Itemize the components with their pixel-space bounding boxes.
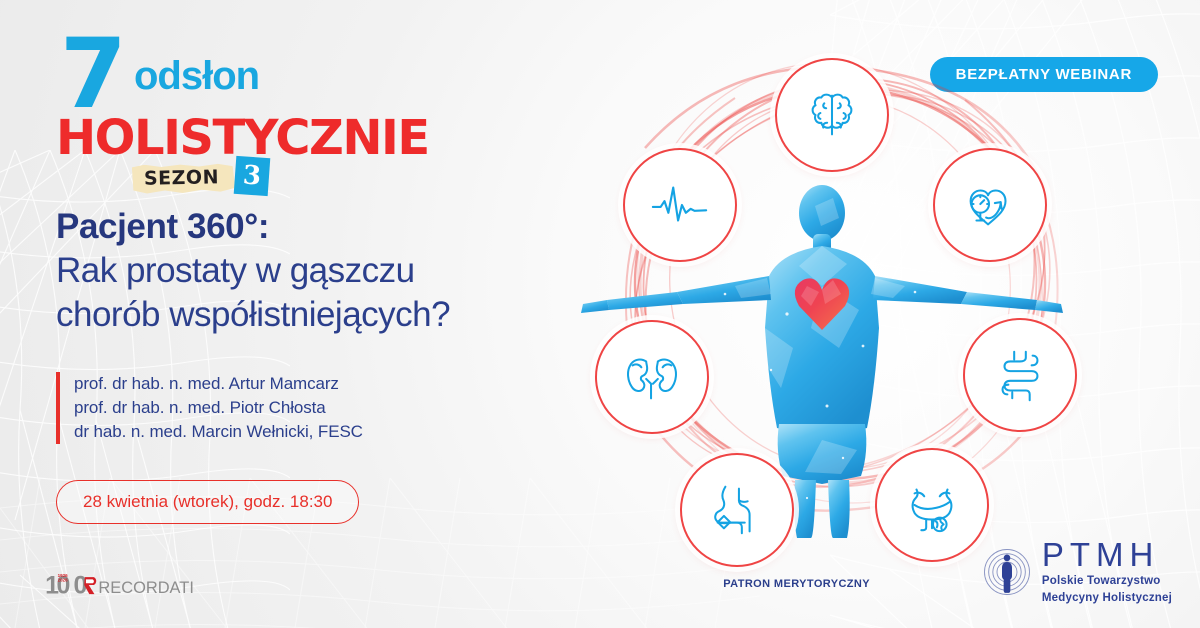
series-title: HOLISTYCZNIE: [56, 114, 429, 162]
ptmh-acronym: PTMH: [1042, 538, 1172, 571]
ptmh-subtitle-line-2: Medycyny Holistycznej: [1042, 591, 1172, 606]
hero-composition: [575, 28, 1105, 538]
webinar-banner: 7 odsłon HOLISTYCZNIE SEZON 3 BEZPŁATNY …: [0, 0, 1200, 628]
icon-circle-kidneys[interactable]: [595, 320, 709, 434]
season-number: 3: [234, 156, 271, 196]
ptmh-logo: PTMH Polskie Towarzystwo Medycyny Holist…: [982, 538, 1172, 606]
icon-circle-brain[interactable]: [775, 58, 889, 172]
ptmh-wordmark: PTMH Polskie Towarzystwo Medycyny Holist…: [1042, 538, 1172, 606]
speaker-item: prof. dr hab. n. med. Piotr Chłosta: [74, 396, 363, 420]
headline-block: Pacjent 360°: Rak prostaty w gąszczu cho…: [56, 206, 576, 337]
brain-icon: [801, 84, 863, 146]
speaker-item: dr hab. n. med. Marcin Wełnicki, FESC: [74, 420, 363, 444]
speaker-item: prof. dr hab. n. med. Artur Mamcarz: [74, 372, 363, 396]
ptmh-subtitle-line-1: Polskie Towarzystwo: [1042, 574, 1172, 589]
ecg-heartbeat-icon: [649, 174, 711, 236]
series-word: odsłon: [134, 56, 259, 96]
icon-circle-intestines[interactable]: [963, 318, 1077, 432]
icon-circle-bladder-prostate[interactable]: [875, 448, 989, 562]
icon-circle-heart-pressure[interactable]: [933, 148, 1047, 262]
series-number: 7: [60, 26, 123, 122]
kidneys-icon: [621, 346, 683, 408]
series-logo: 7 odsłon HOLISTYCZNIE SEZON 3: [58, 30, 358, 180]
season-label: SEZON: [130, 163, 236, 194]
bladder-prostate-icon: [901, 474, 963, 536]
icon-circle-knee-joint[interactable]: [680, 453, 794, 567]
recordati-logo: 1 0 0 1926 2026 RECORDATI: [44, 564, 214, 606]
svg-text:RECORDATI: RECORDATI: [98, 579, 194, 597]
intestines-icon: [989, 344, 1051, 406]
icon-circle-ecg[interactable]: [623, 148, 737, 262]
patron-label: PATRON MERYTORYCZNY: [723, 578, 870, 590]
event-date-badge: 28 kwietnia (wtorek), godz. 18:30: [56, 480, 359, 524]
ptmh-logo-mark: [982, 547, 1032, 597]
headline-line-1: Rak prostaty w gąszczu: [56, 249, 576, 293]
season-tag: SEZON 3: [130, 164, 235, 198]
heart-pressure-icon: [959, 174, 1021, 236]
headline-line-2: chorób współistniejących?: [56, 293, 576, 337]
svg-text:2026: 2026: [58, 578, 69, 583]
speakers-list: prof. dr hab. n. med. Artur Mamcarz prof…: [56, 372, 363, 444]
knee-joint-icon: [706, 479, 768, 541]
headline-kicker: Pacjent 360°:: [56, 206, 576, 247]
recordati-logo-mark: 1 0 0 1926 2026 RECORDATI: [44, 566, 214, 604]
